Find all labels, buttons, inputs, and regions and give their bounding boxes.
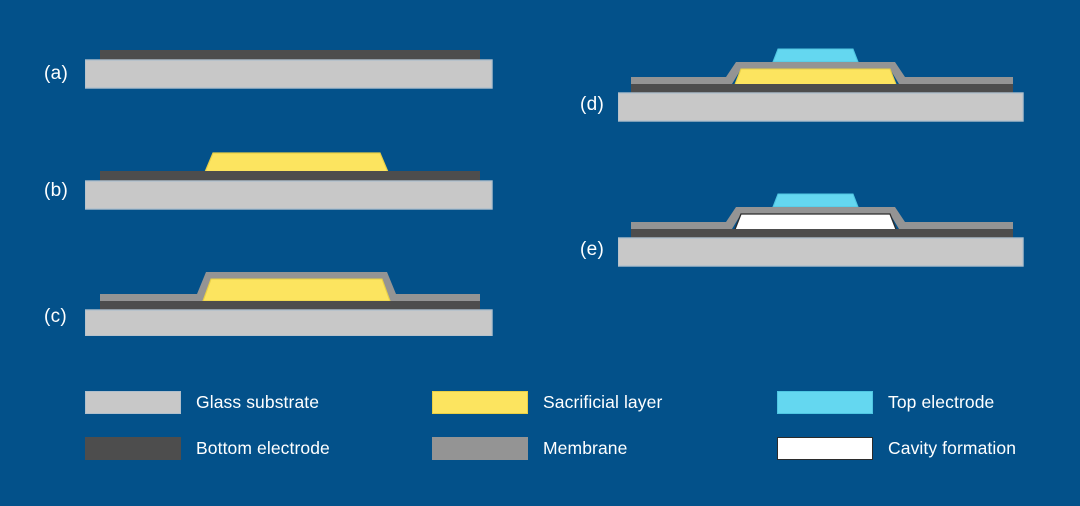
legend-column-2: Sacrificial layer Membrane: [432, 390, 752, 475]
bottom-electrode-layer: [100, 301, 480, 310]
legend-label-sacrificial-layer: Sacrificial layer: [543, 392, 662, 413]
bottom-electrode-layer: [631, 229, 1013, 238]
sacrificial-layer-shape: [205, 153, 388, 172]
panel-diagram-a: [85, 50, 495, 95]
sacrificial-layer-shape: [203, 279, 390, 301]
bottom-electrode-layer: [100, 171, 480, 181]
legend-label-cavity-formation: Cavity formation: [888, 438, 1016, 459]
bottom-electrode-swatch: [85, 437, 181, 460]
cavity-formation-swatch: [777, 437, 873, 460]
top-electrode-shape: [773, 194, 858, 207]
panel-label-c: (c): [44, 306, 67, 328]
panel-label-a: (a): [44, 63, 68, 85]
bottom-electrode-layer: [631, 84, 1013, 93]
legend: Glass substrate Bottom electrode Sacrifi…: [85, 390, 1035, 475]
panel-label-b: (b): [44, 180, 68, 202]
glass-substrate-swatch: [85, 391, 181, 414]
figure-canvas: (a) (b) (c) (d): [0, 0, 1080, 506]
top-electrode-shape: [773, 49, 858, 62]
legend-item-sacrificial-layer: Sacrificial layer: [432, 390, 662, 414]
glass-substrate-layer: [618, 93, 1023, 121]
panel-diagram-b: [85, 150, 495, 212]
bottom-electrode-layer: [100, 50, 480, 60]
legend-column-1: Glass substrate Bottom electrode: [85, 390, 405, 475]
top-electrode-swatch: [777, 391, 873, 414]
sacrificial-layer-swatch: [432, 391, 528, 414]
glass-substrate-layer: [85, 310, 492, 336]
membrane-swatch: [432, 437, 528, 460]
legend-label-bottom-electrode: Bottom electrode: [196, 438, 330, 459]
legend-item-membrane: Membrane: [432, 436, 627, 460]
panel-label-e: (e): [580, 239, 604, 261]
glass-substrate-layer: [618, 238, 1023, 266]
glass-substrate-layer: [85, 181, 492, 209]
legend-label-glass-substrate: Glass substrate: [196, 392, 319, 413]
panel-diagram-d: [618, 45, 1028, 123]
legend-label-membrane: Membrane: [543, 438, 627, 459]
legend-item-bottom-electrode: Bottom electrode: [85, 436, 330, 460]
legend-item-cavity-formation: Cavity formation: [777, 436, 1016, 460]
legend-item-top-electrode: Top electrode: [777, 390, 994, 414]
panel-diagram-e: [618, 190, 1028, 268]
legend-item-glass-substrate: Glass substrate: [85, 390, 319, 414]
glass-substrate-layer: [85, 60, 492, 88]
panel-diagram-c: [85, 263, 495, 336]
panel-label-d: (d): [580, 94, 604, 116]
legend-label-top-electrode: Top electrode: [888, 392, 994, 413]
legend-column-3: Top electrode Cavity formation: [777, 390, 1080, 475]
